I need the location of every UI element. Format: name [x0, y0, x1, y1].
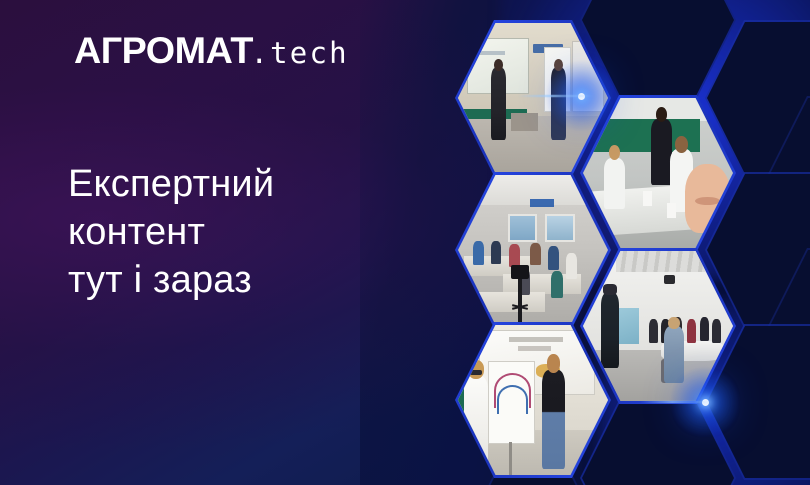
photo-team-selfie-frame	[583, 98, 733, 248]
headline-line-1: Експертний	[68, 160, 274, 208]
brand-logo-name: АГРОМАТ	[74, 32, 253, 69]
photo-training-presentation-frame	[458, 23, 608, 173]
headline: Експертний контент тут і зараз	[68, 160, 274, 304]
photo-vr-demo-image	[583, 251, 733, 401]
glow-streak-upper	[518, 95, 594, 97]
photo-flipchart-coaching-frame	[458, 325, 608, 475]
photo-flipchart-coaching	[455, 322, 611, 478]
photo-team-selfie-image	[583, 98, 733, 248]
glow-streak-lower	[640, 401, 712, 403]
headline-line-2: контент	[68, 208, 274, 256]
photo-vr-demo	[580, 248, 736, 404]
hex-empty-bottom-mid-fill	[582, 402, 734, 485]
photo-training-presentation-image	[458, 23, 608, 173]
brand-logo[interactable]: АГРОМАТ .tech	[74, 32, 349, 69]
brand-logo-suffix: .tech	[250, 39, 348, 68]
photo-training-presentation	[455, 20, 611, 176]
photo-classroom-seminar-frame	[458, 175, 608, 325]
promo-banner: АГРОМАТ .tech Експертний контент тут і з…	[0, 0, 810, 485]
headline-line-3: тут і зараз	[68, 256, 274, 304]
photo-vr-demo-frame	[583, 251, 733, 401]
hex-empty-top-mid-fill	[582, 0, 734, 96]
photo-classroom-seminar	[455, 172, 611, 328]
photo-flipchart-coaching-image	[458, 325, 608, 475]
photo-team-selfie	[580, 95, 736, 251]
photo-classroom-seminar-image	[458, 175, 608, 325]
